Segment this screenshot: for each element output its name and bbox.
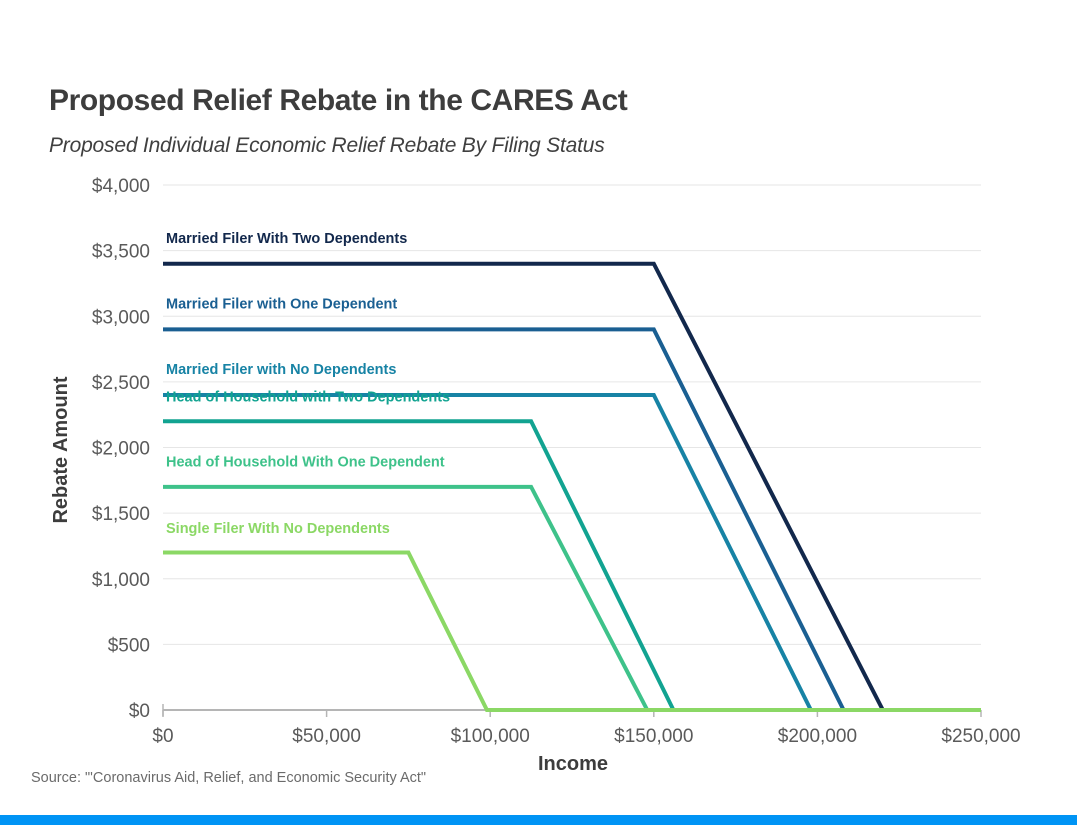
y-tick-label: $3,000 xyxy=(92,307,150,328)
line-chart: $0$500$1,000$1,500$2,000$2,500$3,000$3,5… xyxy=(0,0,1077,825)
x-tick-label: $250,000 xyxy=(941,726,1020,747)
x-tick-label: $200,000 xyxy=(778,726,857,747)
gridlines xyxy=(163,185,981,644)
x-tick-label: $50,000 xyxy=(292,726,361,747)
series-line xyxy=(163,553,981,711)
series-label: Single Filer With No Dependents xyxy=(166,521,390,537)
y-tick-label: $1,500 xyxy=(92,504,150,525)
series-label: Married Filer With Two Dependents xyxy=(166,231,407,247)
y-tick-label: $2,000 xyxy=(92,439,150,460)
source-note: Source: "'Coronavirus Aid, Relief, and E… xyxy=(31,770,426,786)
series-labels: Married Filer With Two DependentsMarried… xyxy=(166,231,450,537)
y-axis-title: Rebate Amount xyxy=(50,376,72,523)
y-tick-label: $3,500 xyxy=(92,242,150,263)
y-tick-label: $0 xyxy=(129,701,150,722)
x-tick-label: $100,000 xyxy=(451,726,530,747)
y-axis-tick-labels: $0$500$1,000$1,500$2,000$2,500$3,000$3,5… xyxy=(92,176,150,722)
series-lines xyxy=(163,264,981,710)
series-label: Head of Household With One Dependent xyxy=(166,455,445,471)
series-label: Married Filer with One Dependent xyxy=(166,296,397,312)
y-tick-label: $1,000 xyxy=(92,570,150,591)
x-axis-title: Income xyxy=(538,753,608,775)
series-line xyxy=(163,329,981,710)
x-tick-label: $150,000 xyxy=(614,726,693,747)
x-tick-label: $0 xyxy=(152,726,173,747)
accent-bottom-bar xyxy=(0,815,1077,825)
series-label: Married Filer with No Dependents xyxy=(166,362,396,378)
chart-page: Proposed Relief Rebate in the CARES Act … xyxy=(0,0,1077,825)
y-tick-label: $2,500 xyxy=(92,373,150,394)
series-label: Head of Household with Two Dependents xyxy=(166,390,450,406)
x-axis-tick-labels: $0$50,000$100,000$150,000$200,000$250,00… xyxy=(152,726,1020,747)
y-tick-label: $4,000 xyxy=(92,176,150,197)
y-tick-label: $500 xyxy=(108,635,150,656)
